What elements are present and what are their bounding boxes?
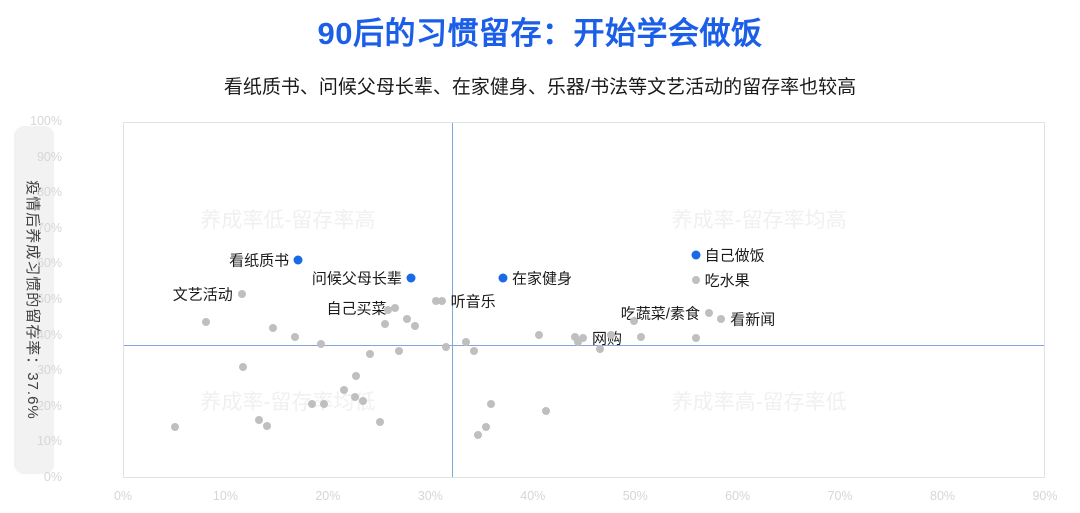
data-point[interactable]	[381, 320, 389, 328]
data-point[interactable]	[411, 322, 419, 330]
data-point[interactable]	[607, 331, 615, 339]
y-axis-tick: 70%	[2, 221, 62, 235]
data-point[interactable]	[263, 422, 271, 430]
x-axis-tick: 30%	[400, 489, 460, 503]
data-point[interactable]	[482, 423, 490, 431]
data-point[interactable]	[308, 400, 316, 408]
data-point[interactable]	[474, 431, 482, 439]
data-point[interactable]	[376, 418, 384, 426]
x-axis-tick: 20%	[298, 489, 358, 503]
data-point-grey[interactable]	[717, 315, 725, 323]
y-axis-tick: 30%	[2, 363, 62, 377]
data-point[interactable]	[317, 340, 325, 348]
data-point-grey[interactable]	[692, 276, 700, 284]
data-point-grey[interactable]	[705, 309, 713, 317]
data-point[interactable]	[171, 423, 179, 431]
data-point[interactable]	[239, 363, 247, 371]
x-axis-tick: 60%	[708, 489, 768, 503]
data-point[interactable]	[630, 317, 638, 325]
data-point-blue[interactable]	[294, 256, 303, 265]
page-subtitle: 看纸质书、问候父母长辈、在家健身、乐器/书法等文艺活动的留存率也较高	[0, 72, 1080, 99]
y-axis-tick: 20%	[2, 399, 62, 413]
quadrant-label: 养成率-留存率均低	[200, 386, 375, 416]
data-point[interactable]	[202, 318, 210, 326]
data-point[interactable]	[470, 347, 478, 355]
scatter-plot-area: 养成率低-留存率高养成率-留存率均高养成率-留存率均低养成率高-留存率低看纸质书…	[123, 122, 1045, 478]
data-point[interactable]	[462, 338, 470, 346]
data-point-blue[interactable]	[499, 273, 508, 282]
data-point[interactable]	[432, 297, 440, 305]
data-point[interactable]	[692, 334, 700, 342]
data-point[interactable]	[352, 372, 360, 380]
horizontal-reference-line	[124, 345, 1044, 346]
quadrant-label: 养成率高-留存率低	[672, 386, 847, 416]
data-point[interactable]	[542, 407, 550, 415]
x-axis-tick: 50%	[605, 489, 665, 503]
data-point[interactable]	[442, 343, 450, 351]
y-axis-tick: 40%	[2, 328, 62, 342]
data-point-label: 自己买菜	[326, 298, 386, 319]
quadrant-label: 养成率-留存率均高	[672, 204, 847, 234]
data-point[interactable]	[291, 333, 299, 341]
data-point-blue[interactable]	[691, 250, 700, 259]
data-point-label: 吃水果	[705, 269, 750, 290]
data-point[interactable]	[487, 400, 495, 408]
data-point[interactable]	[320, 400, 328, 408]
data-point-label: 文艺活动	[173, 283, 233, 304]
y-axis-tick: 60%	[2, 256, 62, 270]
page-title: 90后的习惯留存：开始学会做饭	[0, 8, 1080, 53]
y-axis-tick: 100%	[2, 114, 62, 128]
data-point[interactable]	[384, 306, 392, 314]
x-axis-tick: 80%	[913, 489, 973, 503]
data-point[interactable]	[574, 338, 582, 346]
data-point[interactable]	[395, 347, 403, 355]
x-axis-tick: 90%	[1015, 489, 1075, 503]
data-point[interactable]	[340, 386, 348, 394]
data-point[interactable]	[596, 345, 604, 353]
data-point-label: 听音乐	[451, 291, 496, 312]
x-axis-tick: 0%	[93, 489, 153, 503]
data-point[interactable]	[403, 315, 411, 323]
data-point-label: 看纸质书	[229, 250, 289, 271]
data-point-grey[interactable]	[391, 304, 399, 312]
y-axis-tick: 10%	[2, 434, 62, 448]
quadrant-label: 养成率低-留存率高	[200, 204, 375, 234]
data-point-grey[interactable]	[238, 290, 246, 298]
data-point[interactable]	[351, 393, 359, 401]
data-point[interactable]	[637, 333, 645, 341]
data-point-blue[interactable]	[406, 273, 415, 282]
data-point[interactable]	[359, 397, 367, 405]
data-point[interactable]	[366, 350, 374, 358]
data-point-label: 自己做饭	[705, 244, 765, 265]
y-axis-tick: 90%	[2, 150, 62, 164]
y-axis-tick: 80%	[2, 185, 62, 199]
x-axis-tick: 40%	[503, 489, 563, 503]
data-point[interactable]	[269, 324, 277, 332]
data-point-label: 看新闻	[730, 308, 775, 329]
y-axis-tick: 0%	[2, 470, 62, 484]
data-point-label: 在家健身	[512, 267, 572, 288]
x-axis-tick: 70%	[810, 489, 870, 503]
data-point-label: 问候父母长辈	[312, 267, 402, 288]
y-axis-tick: 50%	[2, 292, 62, 306]
x-axis-tick: 10%	[195, 489, 255, 503]
data-point[interactable]	[535, 331, 543, 339]
data-point[interactable]	[255, 416, 263, 424]
